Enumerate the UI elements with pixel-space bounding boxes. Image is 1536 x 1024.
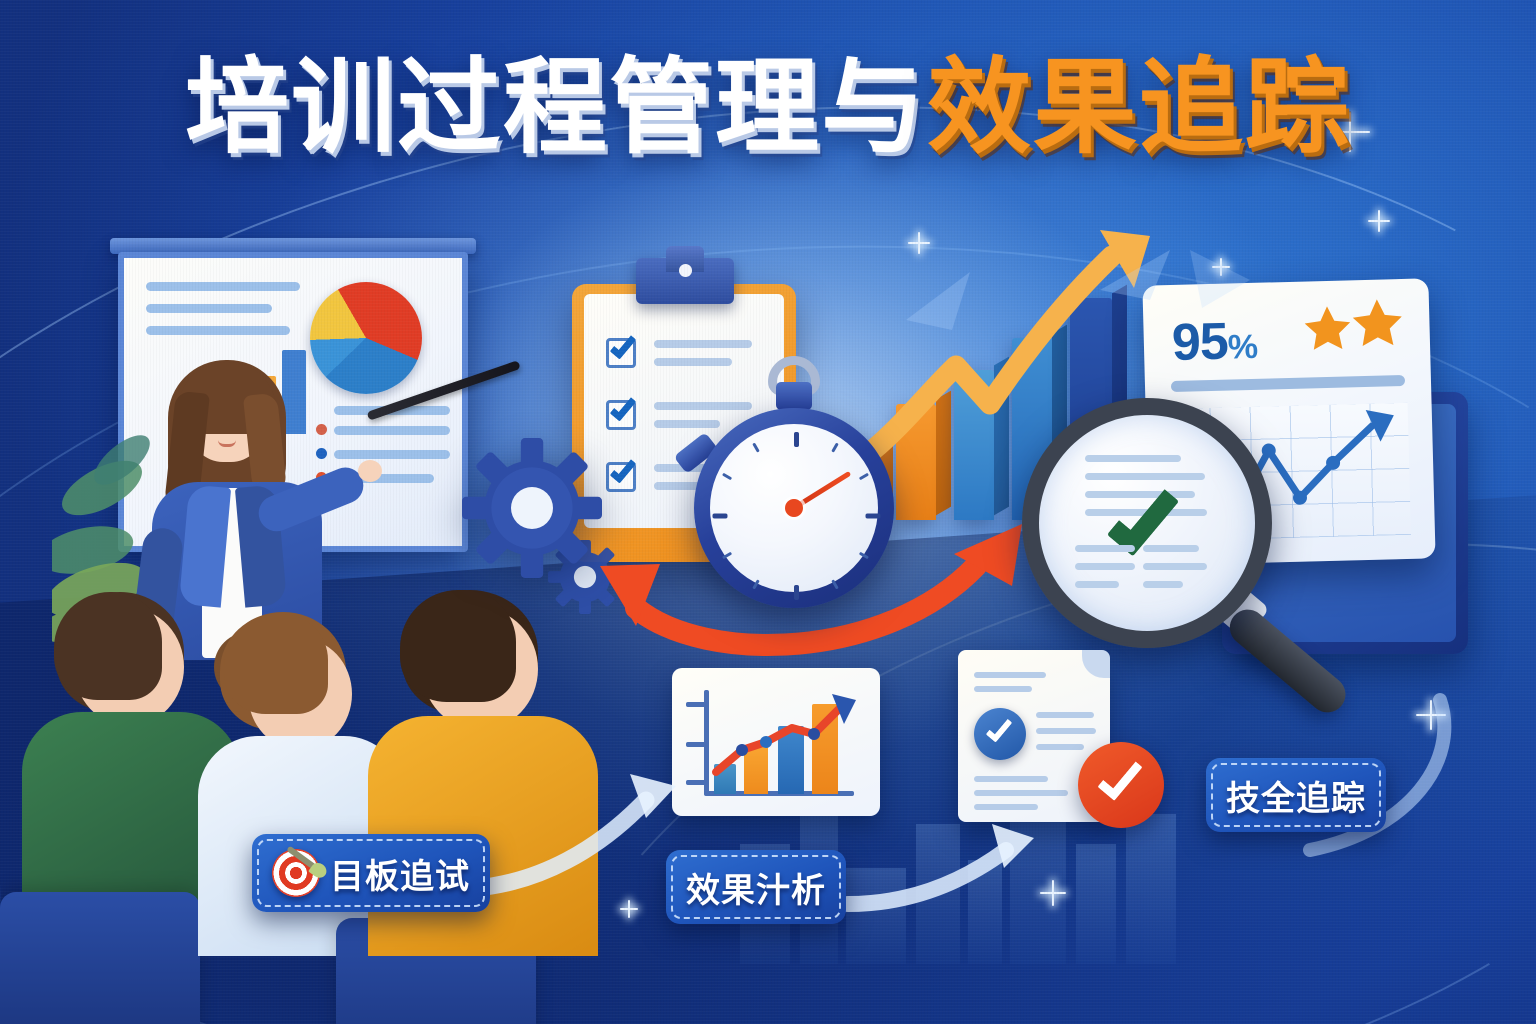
axis-tick bbox=[686, 702, 706, 707]
trend-arrow-icon bbox=[708, 690, 868, 786]
title-orange-part: 效果追踪 bbox=[927, 50, 1351, 166]
check-icon bbox=[610, 331, 637, 359]
sparkle-icon bbox=[908, 232, 930, 254]
percent-symbol: % bbox=[1227, 328, 1257, 367]
document-text-line bbox=[1085, 473, 1205, 480]
checklist-text-line bbox=[654, 340, 752, 348]
document-text-line bbox=[974, 672, 1046, 678]
stopwatch-crown bbox=[776, 382, 812, 410]
check-icon bbox=[610, 455, 637, 483]
document-text-line bbox=[1036, 728, 1096, 734]
magnifier-lens bbox=[1022, 398, 1272, 648]
document-text-line bbox=[1143, 563, 1207, 570]
whiteboard-text-line bbox=[146, 326, 290, 335]
document-text-line bbox=[974, 790, 1068, 796]
badge-label: 技全追踪 bbox=[1226, 771, 1366, 820]
progress-bar bbox=[1171, 375, 1405, 392]
stopwatch-body bbox=[694, 408, 894, 608]
magnifier-icon bbox=[1022, 398, 1272, 648]
check-icon bbox=[1097, 753, 1142, 801]
checkbox[interactable] bbox=[606, 338, 636, 368]
sparkle-icon bbox=[1040, 880, 1066, 906]
document-text-line bbox=[1075, 563, 1135, 570]
badge-effect-analysis[interactable]: 效果汁析 bbox=[666, 850, 846, 924]
document-text-line bbox=[1085, 455, 1181, 462]
checklist-text-line bbox=[654, 358, 732, 366]
score-percentage: 95% bbox=[1171, 311, 1258, 373]
badge-label: 效果汁析 bbox=[686, 863, 826, 912]
page-title: 培训过程管理与效果追踪 bbox=[0, 52, 1536, 164]
check-icon bbox=[610, 393, 637, 421]
checkbox[interactable] bbox=[606, 400, 636, 430]
sparkle-icon bbox=[1368, 210, 1390, 232]
axis-tick bbox=[686, 780, 706, 785]
star-icon bbox=[1301, 302, 1354, 355]
title-white-part: 培训过程管理与 bbox=[185, 50, 927, 166]
presenter-hand-right bbox=[358, 460, 382, 482]
audience-hair bbox=[224, 614, 328, 714]
audience-chair bbox=[0, 892, 200, 1024]
check-icon bbox=[986, 714, 1013, 742]
gear-icon bbox=[462, 438, 602, 578]
document-text-line bbox=[1075, 545, 1135, 552]
sparkle-icon bbox=[1416, 700, 1446, 730]
document-text-line bbox=[974, 776, 1048, 782]
bar-chart-bar bbox=[954, 370, 994, 520]
score-value: 95 bbox=[1171, 313, 1228, 372]
stopwatch-face bbox=[710, 424, 878, 592]
axis-tick bbox=[686, 742, 706, 747]
document-text-line bbox=[1075, 581, 1119, 588]
analysis-chart-card bbox=[672, 668, 880, 816]
checkbox[interactable] bbox=[606, 462, 636, 492]
document-text-line bbox=[974, 686, 1032, 692]
whiteboard-text-line bbox=[146, 304, 272, 313]
badge-full-tracking[interactable]: 技全追踪 bbox=[1206, 758, 1386, 832]
flow-arrow-icon bbox=[842, 812, 1042, 922]
stopwatch-icon bbox=[694, 408, 894, 608]
blue-check-badge bbox=[974, 708, 1026, 760]
stopwatch-hub bbox=[785, 499, 803, 517]
document-text-line bbox=[1036, 744, 1084, 750]
target-icon bbox=[272, 849, 320, 897]
red-check-badge bbox=[1078, 742, 1164, 828]
sparkle-icon bbox=[620, 900, 638, 918]
whiteboard-text-line bbox=[146, 282, 300, 291]
star-icon bbox=[1349, 295, 1406, 352]
poster-canvas: 95% bbox=[0, 0, 1536, 1024]
clipboard-clamp-hole bbox=[679, 264, 692, 277]
document-text-line bbox=[1036, 712, 1094, 718]
audience-hair bbox=[54, 592, 162, 700]
sparkle-icon bbox=[1212, 258, 1230, 276]
dart-icon bbox=[286, 846, 322, 874]
document-text-line bbox=[1143, 545, 1199, 552]
page-fold-corner bbox=[1082, 650, 1110, 678]
document-text-line bbox=[1143, 581, 1183, 588]
badge-goal-tracking[interactable]: 目板追试 bbox=[252, 834, 490, 912]
audience-member bbox=[374, 590, 614, 1024]
audience-hair bbox=[400, 590, 516, 702]
document-text-line bbox=[974, 804, 1038, 810]
badge-label: 目板追试 bbox=[330, 849, 470, 898]
